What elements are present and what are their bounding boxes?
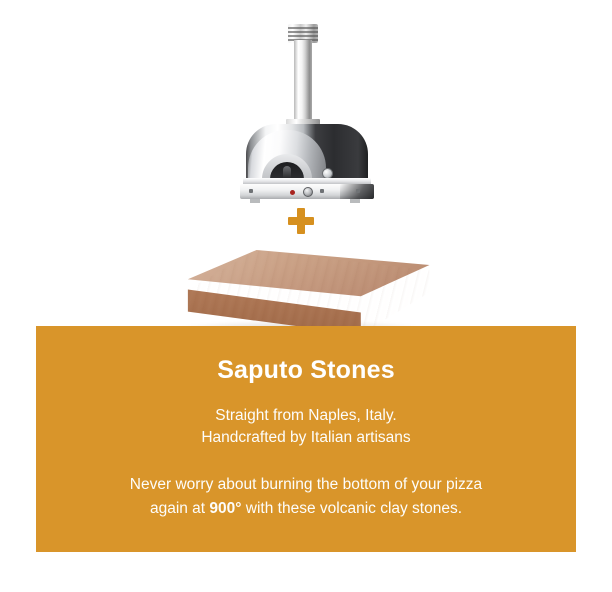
plus-icon [288, 208, 314, 234]
panel-subtitle-line-1: Straight from Naples, Italy. [215, 407, 396, 424]
oven-base-screw-icon [249, 189, 253, 193]
oven-base-foot [350, 199, 360, 203]
oven-base-foot [250, 199, 260, 203]
panel-body-text: Never worry about burning the bottom of … [36, 449, 576, 521]
panel-body-line-2-suffix: with these volcanic clay stones. [241, 500, 462, 517]
pizza-oven-image [232, 18, 382, 206]
info-panel: Saputo Stones Straight from Naples, Ital… [36, 326, 576, 552]
oven-control-knob-icon [303, 187, 313, 197]
product-promo-graphic: Saputo Stones Straight from Naples, Ital… [0, 0, 612, 592]
panel-subtitle-line-2: Handcrafted by Italian artisans [201, 429, 410, 446]
panel-body-line-1: Never worry about burning the bottom of … [130, 476, 482, 493]
oven-chimney-icon [294, 40, 312, 124]
panel-subtitle: Straight from Naples, Italy. Handcrafted… [36, 385, 576, 449]
oven-indicator-light-icon [290, 190, 295, 195]
panel-body-temperature: 900° [209, 500, 241, 517]
oven-base-screw-icon [320, 189, 324, 193]
panel-body-line-2-prefix: again at [150, 500, 209, 517]
oven-dome-body [246, 124, 368, 186]
panel-title: Saputo Stones [36, 326, 576, 385]
oven-base-screw-icon [356, 189, 360, 193]
